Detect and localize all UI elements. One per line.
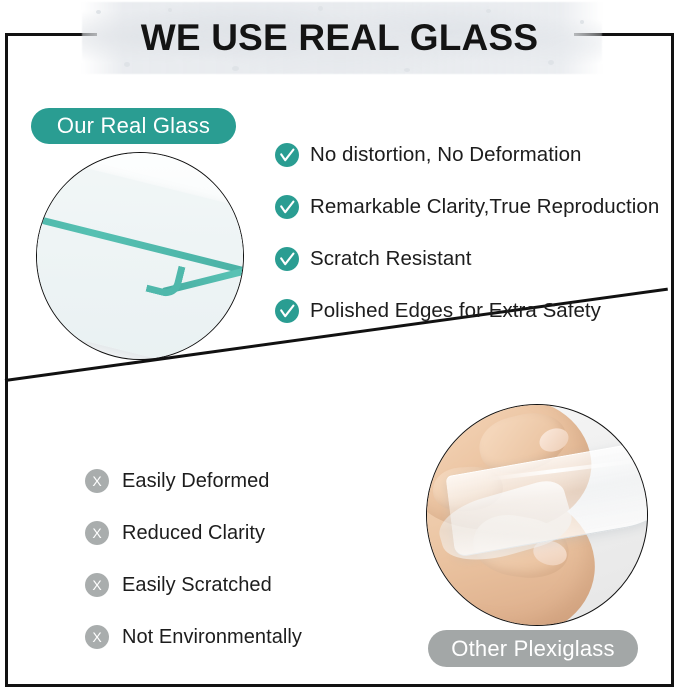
title-banner: WE USE REAL GLASS — [0, 0, 679, 76]
real-glass-corner-photo — [36, 152, 244, 360]
badge-other-plexiglass: Other Plexiglass — [428, 630, 638, 667]
list-item: X Not Environmentally — [85, 611, 302, 663]
list-item: X Reduced Clarity — [85, 507, 302, 559]
list-item-label: Easily Scratched — [122, 574, 272, 597]
frame-border-right — [671, 33, 674, 687]
x-circle-icon: X — [85, 521, 109, 545]
list-item-label: Easily Deformed — [122, 470, 269, 493]
check-circle-icon — [275, 247, 299, 271]
list-item-label: No distortion, No Deformation — [310, 143, 581, 167]
list-item-label: Scratch Resistant — [310, 247, 472, 271]
list-item-label: Not Environmentally — [122, 626, 302, 649]
brush-speck — [486, 9, 491, 13]
frame-border-left — [5, 33, 8, 687]
brush-speck — [548, 60, 554, 65]
list-item-label: Reduced Clarity — [122, 522, 265, 545]
brush-speck — [318, 6, 323, 11]
x-circle-icon: X — [85, 625, 109, 649]
brush-speck — [168, 8, 172, 12]
brush-speck — [232, 66, 239, 71]
list-item: No distortion, No Deformation — [275, 129, 659, 181]
list-item-label: Remarkable Clarity,True Reproduction — [310, 195, 659, 219]
check-circle-icon — [275, 299, 299, 323]
check-circle-icon — [275, 143, 299, 167]
x-circle-icon: X — [85, 469, 109, 493]
list-item: Polished Edges for Extra Safety — [275, 285, 659, 337]
badge-our-real-glass-label: Our Real Glass — [57, 113, 210, 139]
list-item: X Easily Deformed — [85, 455, 302, 507]
list-item: Scratch Resistant — [275, 233, 659, 285]
brush-speck — [404, 68, 410, 72]
benefits-list: No distortion, No Deformation Remarkable… — [275, 129, 659, 337]
list-item: Remarkable Clarity,True Reproduction — [275, 181, 659, 233]
badge-our-real-glass: Our Real Glass — [31, 108, 236, 144]
list-item: X Easily Scratched — [85, 559, 302, 611]
drawbacks-list: X Easily Deformed X Reduced Clarity X Ea… — [85, 455, 302, 663]
x-circle-icon: X — [85, 573, 109, 597]
product-comparison-infographic: WE USE REAL GLASS Our Real Glass No dist… — [0, 0, 679, 691]
list-item-label: Polished Edges for Extra Safety — [310, 299, 601, 323]
frame-border-bottom — [5, 684, 674, 687]
page-title: WE USE REAL GLASS — [0, 16, 679, 60]
bending-plexiglass-photo — [426, 404, 648, 626]
brush-speck — [124, 62, 130, 67]
brush-speck — [96, 10, 101, 14]
badge-other-plexiglass-label: Other Plexiglass — [451, 636, 614, 662]
check-circle-icon — [275, 195, 299, 219]
